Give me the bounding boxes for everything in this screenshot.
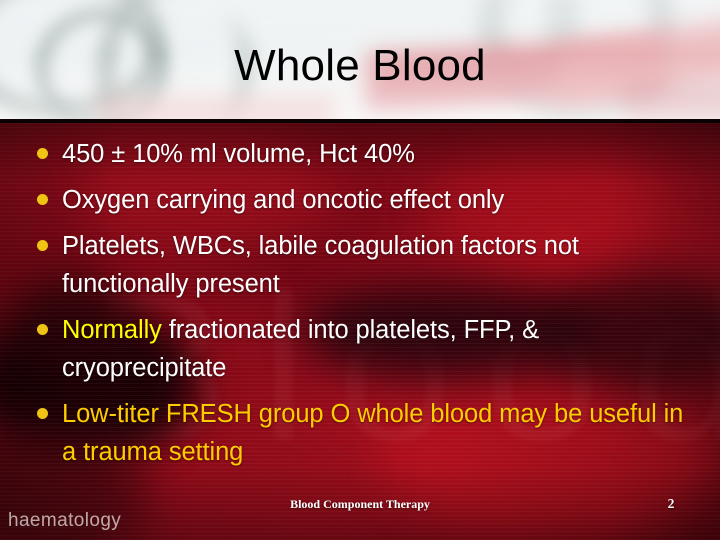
slide-whole-blood: Whole Blood Blood 450 ± 10% ml volume, H… xyxy=(0,0,720,540)
bullet-item-labile-factors: Platelets, WBCs, labile coagulation fact… xyxy=(28,227,704,303)
bullet-item-low-titer-trauma: Low-titer FRESH group O whole blood may … xyxy=(28,395,704,471)
bullet-item-volume-hct: 450 ± 10% ml volume, Hct 40% xyxy=(28,135,704,173)
bullet-text-highlight: Normally xyxy=(62,316,162,344)
bullet-marker-icon xyxy=(37,240,48,251)
bullet-text: Low-titer FRESH group O whole blood may … xyxy=(62,395,704,471)
slide-title: Whole Blood xyxy=(0,40,720,92)
bullet-marker-icon xyxy=(37,194,48,205)
bullet-text: Platelets, WBCs, labile coagulation fact… xyxy=(62,227,704,303)
footer-page-number: 2 xyxy=(640,496,702,512)
bullet-text-group: Normally fractionated into platelets, FF… xyxy=(62,311,704,387)
slide-body-content: 450 ± 10% ml volume, Hct 40% Oxygen carr… xyxy=(0,123,720,540)
bullet-marker-icon xyxy=(37,148,48,159)
brand-watermark: haematology xyxy=(8,510,121,532)
bullet-marker-icon xyxy=(37,324,48,335)
bullet-item-oxygen-oncotic: Oxygen carrying and oncotic effect only xyxy=(28,181,704,219)
bullet-text: Oxygen carrying and oncotic effect only xyxy=(62,181,704,219)
bullet-text: 450 ± 10% ml volume, Hct 40% xyxy=(62,135,704,173)
bullet-item-fractionation: Normally fractionated into platelets, FF… xyxy=(28,311,704,387)
bullet-marker-icon xyxy=(37,408,48,419)
